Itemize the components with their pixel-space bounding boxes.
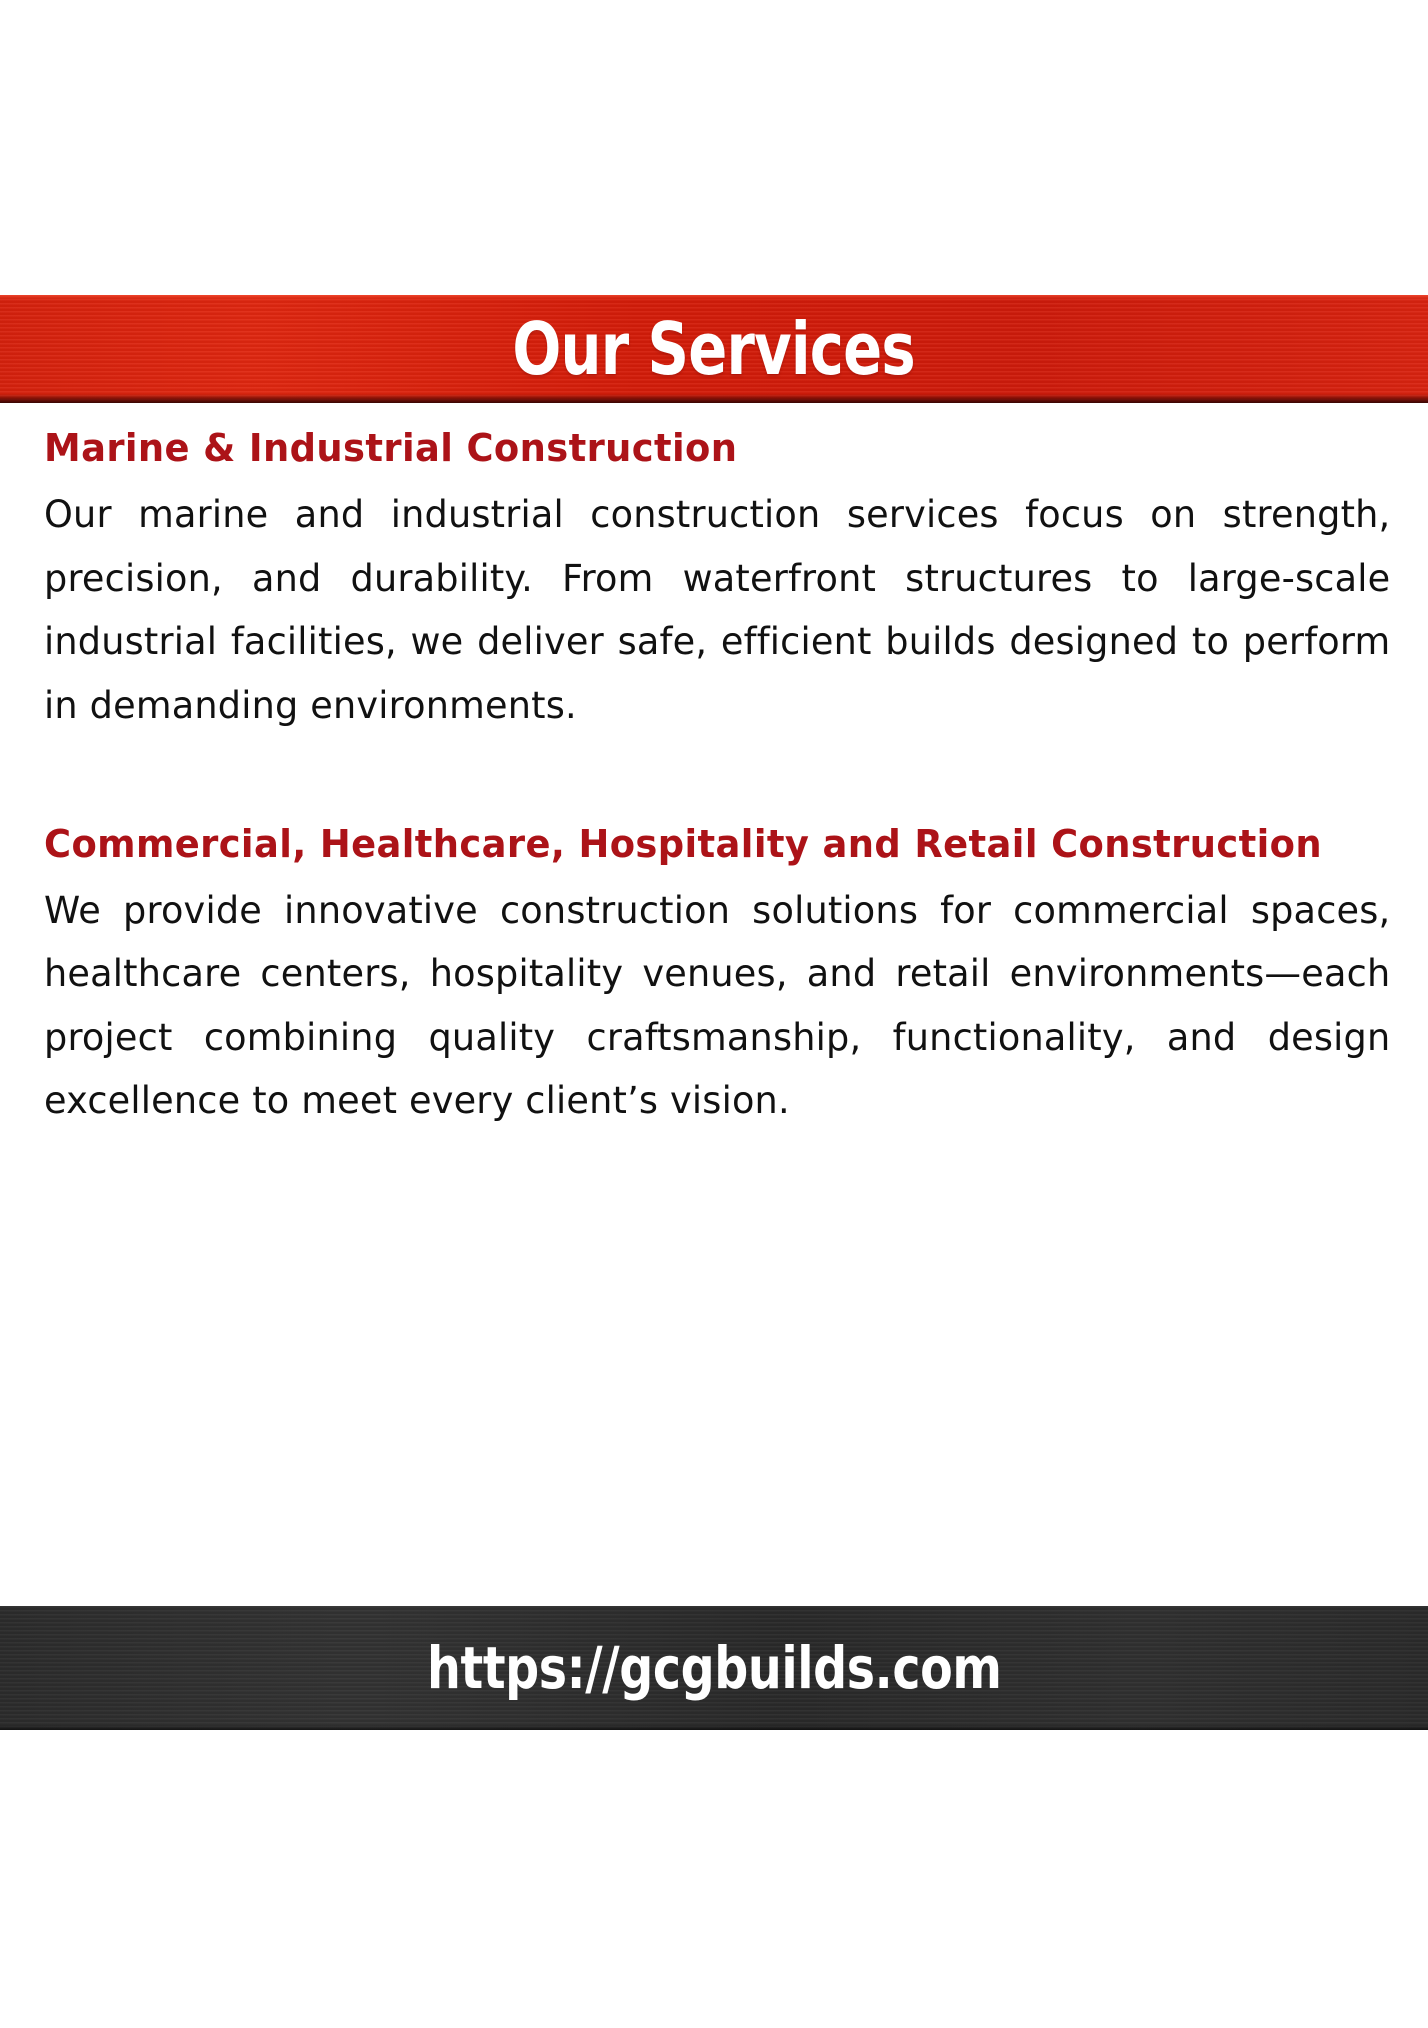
footer-bar: https://gcgbuilds.com	[0, 1606, 1428, 1730]
page-canvas: Our Services Marine & Industrial Constru…	[0, 0, 1428, 2028]
service-section-marine-industrial: Marine & Industrial Construction Our mar…	[44, 420, 1404, 738]
services-content: Marine & Industrial Construction Our mar…	[44, 420, 1404, 1133]
section-spacer	[44, 738, 1404, 816]
service-heading-marine-industrial: Marine & Industrial Construction	[44, 420, 1363, 477]
service-body-commercial-healthcare: We provide innovative construction solut…	[44, 879, 1390, 1134]
services-banner: Our Services	[0, 295, 1428, 403]
service-section-commercial-healthcare: Commercial, Healthcare, Hospitality and …	[44, 816, 1404, 1134]
service-body-marine-industrial: Our marine and industrial construction s…	[44, 483, 1390, 738]
page-title: Our Services	[513, 313, 916, 385]
website-url-link[interactable]: https://gcgbuilds.com	[427, 1639, 1001, 1697]
service-heading-commercial-healthcare: Commercial, Healthcare, Hospitality and …	[44, 816, 1363, 873]
